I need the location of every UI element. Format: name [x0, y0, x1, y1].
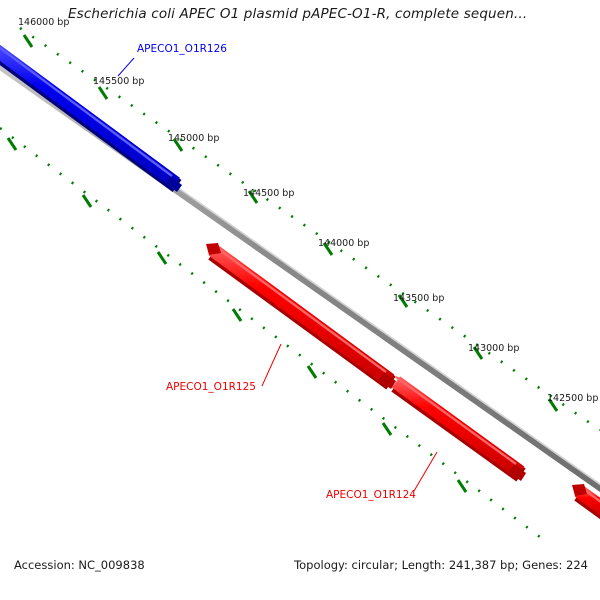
genome-map-canvas[interactable] — [0, 0, 600, 540]
label-leader-lines — [118, 58, 437, 491]
gene-feature-APECO1_O1R125[interactable] — [206, 243, 396, 389]
ruler-major-ticks-lower — [8, 138, 466, 492]
gene-label-APECO1_O1R124[interactable]: APECO1_O1R124 — [326, 489, 416, 501]
bp-tick-label: 144000 bp — [318, 238, 369, 249]
ruler-major-ticks — [24, 35, 557, 411]
gene-label-APECO1_O1R125[interactable]: APECO1_O1R125 — [166, 381, 256, 393]
accession-label: Accession: NC_009838 — [14, 558, 145, 572]
bp-tick-label: 145000 bp — [168, 133, 219, 144]
status-bar: Accession: NC_009838 Topology: circular;… — [0, 544, 600, 600]
bp-tick-label: 145500 bp — [93, 76, 144, 87]
bp-tick-label: 143500 bp — [393, 293, 444, 304]
bp-tick-label: 144500 bp — [243, 188, 294, 199]
bp-tick-label: 146000 bp — [18, 17, 69, 28]
gene-label-APECO1_O1R126[interactable]: APECO1_O1R126 — [137, 43, 227, 55]
bp-tick-label: 142500 bp — [547, 393, 598, 404]
bp-tick-label: 143000 bp — [468, 343, 519, 354]
sequence-summary-label: Topology: circular; Length: 241,387 bp; … — [294, 558, 588, 572]
gene-feature-APECO1_O1R126[interactable] — [0, 39, 182, 192]
genome-map-viewer: Escherichia coli APEC O1 plasmid pAPEC-O… — [0, 0, 600, 600]
